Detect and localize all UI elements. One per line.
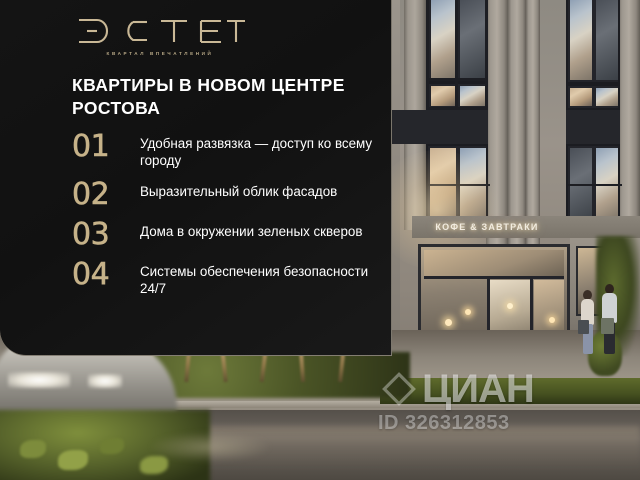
screenshot-root: КОФЕ & ЗАВТРАКИ	[0, 0, 640, 480]
logo-tagline: КВАРТАЛ ВПЕЧАТЛЕНИЙ	[70, 51, 250, 56]
spandrel-left	[390, 110, 488, 144]
window-group-b-transom	[566, 84, 620, 110]
feature-text: Выразительный облик фасадов	[140, 181, 337, 200]
window-group-d	[566, 144, 620, 224]
feature-list: 01 Удобная развязка — доступ ко всему го…	[72, 133, 388, 309]
leaf-3	[100, 438, 124, 454]
window-array-upper	[426, 0, 488, 110]
feature-item: 03 Дома в окружении зеленых скверов	[72, 221, 388, 249]
brand-logo: КВАРТАЛ ВПЕЧАТЛЕНИЙ	[70, 16, 250, 56]
feature-item: 01 Удобная развязка — доступ ко всему го…	[72, 133, 388, 169]
feature-item: 02 Выразительный облик фасадов	[72, 181, 388, 209]
page-title: КВАРТИРЫ В НОВОМ ЦЕНТРЕ РОСТОВА	[72, 74, 372, 120]
feature-number: 04	[72, 261, 140, 289]
feature-number: 02	[72, 181, 140, 209]
feature-item: 04 Системы обеспечения безопасности 24/7	[72, 261, 388, 297]
grass-strip	[380, 378, 640, 404]
feature-number: 01	[72, 133, 140, 161]
feature-text: Системы обеспечения безопасности 24/7	[140, 261, 388, 297]
info-panel: КВАРТАЛ ВПЕЧАТЛЕНИЙ КВАРТИРЫ В НОВОМ ЦЕН…	[0, 0, 392, 356]
leaf-1	[20, 440, 46, 458]
feature-text: Удобная развязка — доступ ко всему город…	[140, 133, 388, 169]
feature-text: Дома в окружении зеленых скверов	[140, 221, 362, 240]
feature-number: 03	[72, 221, 140, 249]
sign-band-extension	[562, 216, 640, 238]
person-right	[601, 284, 619, 362]
spandrel-right	[566, 110, 620, 144]
leaf-2	[58, 450, 88, 470]
person-left	[580, 290, 596, 360]
window-group-c	[426, 144, 488, 224]
window-group-b	[566, 0, 620, 84]
headlight-left	[8, 372, 70, 388]
foreground-litter	[150, 432, 270, 462]
cafe-sign-text: КОФЕ & ЗАВТРАКИ	[435, 222, 538, 232]
cafe-sign: КОФЕ & ЗАВТРАКИ	[412, 216, 562, 238]
logo-wordmark-icon	[75, 16, 245, 46]
headlight-right	[88, 374, 122, 388]
